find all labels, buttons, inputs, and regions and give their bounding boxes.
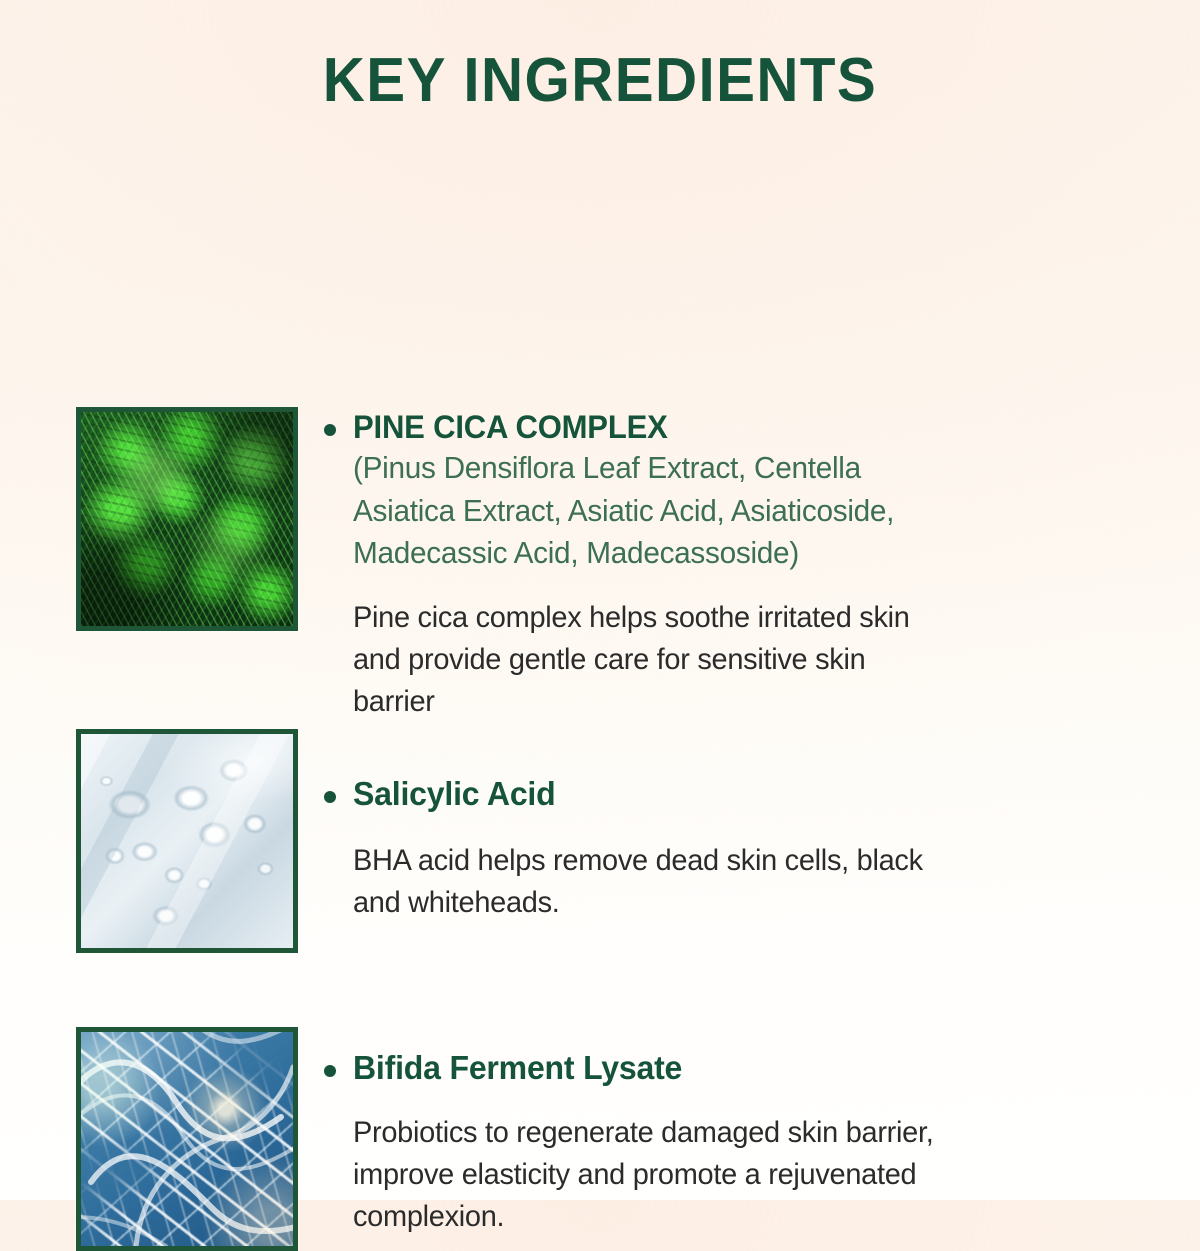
water-droplets-photo bbox=[81, 734, 293, 948]
ingredient-name: Salicylic Acid bbox=[353, 775, 556, 814]
list-item: Salicylic Acid BHA acid helps remove dea… bbox=[0, 729, 1124, 953]
ingredient-copy: Bifida Ferment Lysate Probiotics to rege… bbox=[324, 1027, 1124, 1238]
bullet-icon bbox=[324, 424, 336, 436]
bullet-icon bbox=[324, 1065, 336, 1077]
ingredient-description: Pine cica complex helps soothe irritated… bbox=[353, 597, 1097, 723]
pine-needles-photo bbox=[81, 412, 293, 626]
ingredient-heading: Bifida Ferment Lysate bbox=[324, 1049, 1124, 1088]
dna-helix-icon bbox=[81, 1032, 293, 1246]
list-item: PINE CICA COMPLEX (Pinus Densiflora Leaf… bbox=[0, 407, 1124, 723]
page-title: KEY INGREDIENTS bbox=[36, 0, 1164, 112]
ingredient-thumbnail-pine bbox=[76, 407, 298, 631]
bullet-icon bbox=[324, 791, 336, 803]
ingredient-thumbnail-dna bbox=[76, 1027, 298, 1251]
ingredient-heading: PINE CICA COMPLEX bbox=[324, 409, 1124, 447]
ingredient-heading: Salicylic Acid bbox=[324, 775, 1124, 814]
ingredient-copy: PINE CICA COMPLEX (Pinus Densiflora Leaf… bbox=[324, 407, 1124, 723]
ingredient-inci-list: (Pinus Densiflora Leaf Extract, Centella… bbox=[353, 447, 1093, 575]
dna-strands-photo bbox=[81, 1032, 293, 1246]
ingredient-thumbnail-water bbox=[76, 729, 298, 953]
ingredient-copy: Salicylic Acid BHA acid helps remove dea… bbox=[324, 729, 1124, 924]
ingredient-name: PINE CICA COMPLEX bbox=[353, 409, 668, 447]
ingredient-description: Probiotics to regenerate damaged skin ba… bbox=[353, 1112, 1097, 1238]
ingredient-name: Bifida Ferment Lysate bbox=[353, 1049, 682, 1088]
ingredient-description: BHA acid helps remove dead skin cells, b… bbox=[353, 840, 1097, 924]
list-item: Bifida Ferment Lysate Probiotics to rege… bbox=[0, 1027, 1124, 1251]
